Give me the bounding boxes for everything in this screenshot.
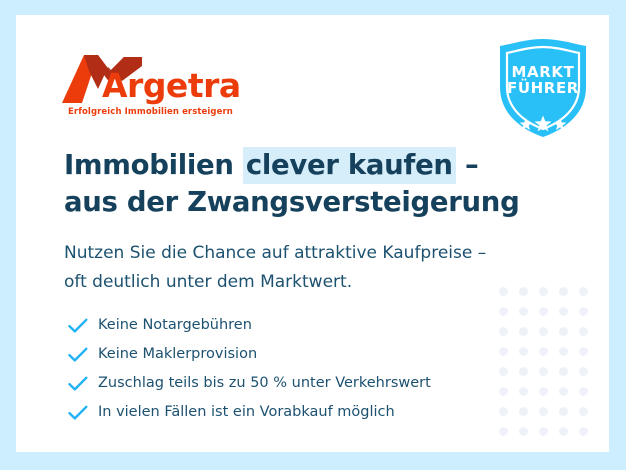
headline-line-2: aus der Zwangsversteigerung (64, 184, 534, 221)
dot (539, 427, 548, 436)
dot (579, 387, 588, 396)
dot (559, 427, 568, 436)
check-icon (68, 376, 98, 392)
dot (579, 287, 588, 296)
dot (579, 327, 588, 336)
list-item-label: Zuschlag teils bis zu 50 % unter Verkehr… (98, 376, 431, 391)
dot (579, 307, 588, 316)
dot (539, 407, 548, 416)
dot (579, 347, 588, 356)
logo-wordmark: Argetra (102, 69, 241, 102)
dot (559, 347, 568, 356)
subheading-line-2: oft deutlich unter dem Marktwert. (64, 268, 564, 297)
dot (559, 327, 568, 336)
subheading: Nutzen Sie die Chance auf attraktive Kau… (64, 239, 564, 297)
benefits-checklist: Keine NotargebührenKeine Maklerprovision… (68, 311, 528, 427)
argetra-logo[interactable]: Argetra Erfolgreich Immobilien ersteiger… (58, 53, 268, 125)
list-item-label: Keine Notargebühren (98, 318, 252, 333)
dot (559, 367, 568, 376)
marktfuehrer-badge: MARKT FÜHRER (494, 37, 592, 139)
dot (539, 307, 548, 316)
dot (559, 387, 568, 396)
check-icon (68, 318, 98, 334)
dot (539, 327, 548, 336)
dot (539, 367, 548, 376)
dot (499, 427, 508, 436)
page-title: Immobilien clever kaufen – aus der Zwang… (64, 147, 534, 221)
list-item-label: In vielen Fällen ist ein Vorabkauf mögli… (98, 405, 395, 420)
subheading-line-1: Nutzen Sie die Chance auf attraktive Kau… (64, 239, 564, 268)
dot (539, 387, 548, 396)
list-item: In vielen Fällen ist ein Vorabkauf mögli… (68, 398, 528, 427)
dot (579, 367, 588, 376)
list-item-label: Keine Maklerprovision (98, 347, 257, 362)
dot (579, 407, 588, 416)
check-icon (68, 347, 98, 363)
badge-stars-icon (517, 115, 569, 135)
list-item: Keine Notargebühren (68, 311, 528, 340)
list-item: Zuschlag teils bis zu 50 % unter Verkehr… (68, 369, 528, 398)
list-item: Keine Maklerprovision (68, 340, 528, 369)
check-icon (68, 405, 98, 421)
dot (579, 427, 588, 436)
content-card: Argetra Erfolgreich Immobilien ersteiger… (16, 15, 609, 452)
headline-prefix: Immobilien (64, 149, 243, 181)
logo-tagline: Erfolgreich Immobilien ersteigern (68, 107, 233, 117)
headline-suffix: – (456, 149, 479, 181)
dot (559, 407, 568, 416)
dot (519, 427, 528, 436)
headline-line-1: Immobilien clever kaufen – (64, 147, 534, 184)
dot (539, 347, 548, 356)
dot (559, 307, 568, 316)
headline-highlight: clever kaufen (243, 147, 456, 184)
poster-stage: Argetra Erfolgreich Immobilien ersteiger… (0, 0, 626, 470)
